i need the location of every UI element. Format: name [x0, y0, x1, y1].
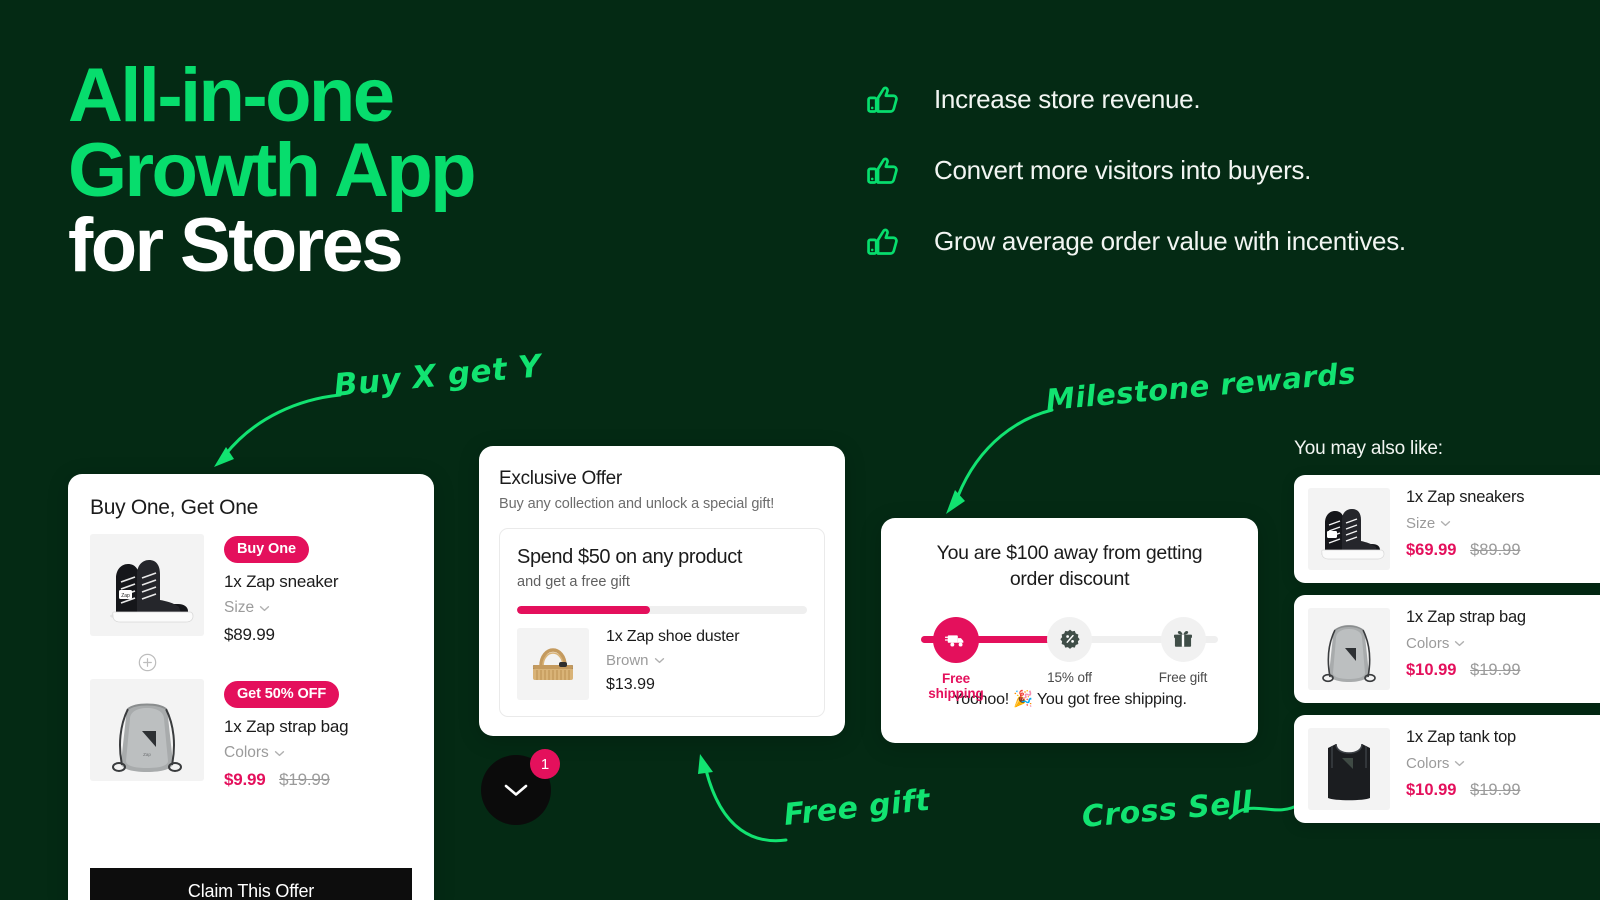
bogo-item-price: $89.99	[224, 625, 338, 645]
upsell-item-card[interactable]: 1x Zap tank top Colors $10.99 $19.99	[1294, 715, 1600, 823]
upsell-item-card[interactable]: 1x Zap sneakers Size $69.99 $89.99	[1294, 475, 1600, 583]
benefit-item: Convert more visitors into buyers.	[866, 135, 1566, 206]
gift-box-icon	[1172, 628, 1194, 650]
chevron-down-icon	[654, 657, 665, 664]
bogo-item-row: Zap Get 50% OFF 1x Zap strap bag Colors …	[90, 679, 412, 790]
hero-line-2: Growth App	[68, 133, 474, 208]
bogo-item-price-row: $9.99 $19.99	[224, 770, 348, 790]
colors-selector[interactable]: Colors	[224, 744, 348, 762]
product-image-strap-bag	[1308, 608, 1390, 690]
upsell-option-label: Colors	[1406, 635, 1449, 652]
hero-line-3: for Stores	[68, 208, 474, 283]
milestone-step-free-gift[interactable]: Free gift	[1144, 617, 1222, 677]
colors-selector-label: Colors	[224, 744, 269, 762]
bogo-item-badge: Buy One	[224, 536, 309, 563]
gift-color-label: Brown	[606, 652, 649, 669]
bogo-offer-card: Buy One, Get One Zap Buy One 1x Zap snea…	[68, 474, 434, 900]
upsell-item-card[interactable]: 1x Zap strap bag Colors $10.99 $19.99	[1294, 595, 1600, 703]
exclusive-goal-title: Spend $50 on any product	[517, 546, 807, 569]
upsell-option-label: Size	[1406, 515, 1435, 532]
exclusive-card-title: Exclusive Offer	[499, 468, 825, 490]
product-image-shoe-duster	[517, 628, 589, 700]
thumbs-up-icon	[866, 84, 900, 116]
annotation-milestone-rewards: Milestone rewards	[1045, 356, 1358, 417]
upsell-colors-selector[interactable]: Colors	[1406, 635, 1526, 652]
exclusive-offer-card: Exclusive Offer Buy any collection and u…	[479, 446, 845, 736]
percent-badge-icon	[1059, 628, 1081, 650]
product-image-tank-top	[1308, 728, 1390, 810]
bogo-item-sale-price: $9.99	[224, 770, 266, 789]
benefits-list: Increase store revenue. Convert more vis…	[866, 64, 1566, 277]
benefit-item: Increase store revenue.	[866, 64, 1566, 135]
bogo-item-name: 1x Zap sneaker	[224, 572, 338, 592]
milestone-step-15-off[interactable]: 15% off	[1031, 617, 1109, 677]
gift-color-selector[interactable]: Brown	[606, 652, 739, 669]
exclusive-progress-fill	[517, 606, 650, 614]
chevron-down-icon	[1454, 760, 1465, 767]
milestone-step-label: 15% off	[1031, 670, 1109, 685]
bogo-item-name: 1x Zap strap bag	[224, 717, 348, 737]
upsell-price-row: $69.99 $89.99	[1406, 541, 1524, 560]
annotation-arrow-buy-x-get-y	[200, 385, 350, 475]
milestone-step-dot	[1161, 617, 1206, 662]
bogo-item-badge: Get 50% OFF	[224, 681, 339, 708]
thumbs-up-icon	[866, 155, 900, 187]
claim-offer-button[interactable]: Claim This Offer	[90, 868, 412, 900]
gift-name: 1x Zap shoe duster	[606, 628, 739, 646]
exclusive-goal-subtitle: and get a free gift	[517, 574, 807, 590]
milestone-step-dot	[933, 617, 979, 663]
upsell-sale-price: $69.99	[1406, 541, 1456, 559]
exclusive-progress-bar	[517, 606, 807, 614]
upsell-item-name: 1x Zap tank top	[1406, 728, 1521, 747]
upsell-item-name: 1x Zap sneakers	[1406, 488, 1524, 507]
benefit-item: Grow average order value with incentives…	[866, 206, 1566, 277]
exclusive-gift-row: 1x Zap shoe duster Brown $13.99	[517, 628, 807, 700]
exclusive-card-subtitle: Buy any collection and unlock a special …	[499, 496, 825, 512]
benefit-text: Grow average order value with incentives…	[934, 226, 1406, 257]
size-selector[interactable]: Size	[224, 599, 338, 617]
upsell-price-row: $10.99 $19.99	[1406, 781, 1521, 800]
annotation-buy-x-get-y: Buy X get Y	[332, 348, 543, 404]
svg-text:Zap: Zap	[143, 752, 151, 757]
upsell-item-name: 1x Zap strap bag	[1406, 608, 1526, 627]
upsell-size-selector[interactable]: Size	[1406, 515, 1524, 532]
chevron-down-icon	[503, 782, 529, 798]
gift-price: $13.99	[606, 676, 739, 694]
bogo-item-row: Zap Buy One 1x Zap sneaker Size $89.99	[90, 534, 412, 645]
milestone-step-free-shipping[interactable]: Free shipping	[917, 617, 995, 677]
exclusive-goal-panel: Spend $50 on any product and get a free …	[499, 528, 825, 717]
upsell-sale-price: $10.99	[1406, 781, 1456, 799]
upsell-compare-price: $89.99	[1470, 541, 1520, 559]
annotation-arrow-free-gift	[686, 748, 796, 853]
page-title: All-in-one Growth App for Stores	[68, 58, 474, 284]
size-selector-label: Size	[224, 599, 254, 617]
annotation-free-gift: Free gift	[782, 783, 932, 833]
benefit-text: Increase store revenue.	[934, 84, 1200, 115]
product-image-sneakers	[1308, 488, 1390, 570]
milestone-step-label: Free gift	[1144, 670, 1222, 685]
bogo-card-title: Buy One, Get One	[90, 496, 412, 520]
annotation-arrow-milestone	[930, 400, 1060, 525]
milestone-rewards-card: You are $100 away from getting order dis…	[881, 518, 1258, 743]
upsell-compare-price: $19.99	[1470, 661, 1520, 679]
hero-line-1: All-in-one	[68, 58, 474, 133]
product-image-strap-bag: Zap	[90, 679, 204, 781]
svg-text:Zap: Zap	[121, 593, 130, 599]
cart-badge-count: 1	[530, 749, 560, 779]
shipping-truck-icon	[945, 629, 967, 651]
product-image-sneaker: Zap	[90, 534, 204, 636]
upsell-colors-selector[interactable]: Colors	[1406, 755, 1521, 772]
chevron-down-icon	[1454, 640, 1465, 647]
bogo-item-compare-price: $19.99	[279, 770, 330, 789]
milestone-step-label: Free shipping	[917, 671, 995, 701]
plus-circle-icon	[138, 653, 157, 672]
annotation-cross-sell: Cross Sell	[1080, 785, 1254, 835]
upsell-panel: You may also like: 1x Zap sneakers Size	[1294, 438, 1600, 835]
chevron-down-icon	[274, 750, 285, 757]
upsell-compare-price: $19.99	[1470, 781, 1520, 799]
chevron-down-icon	[1440, 520, 1451, 527]
milestone-progress: Free shipping 15% off	[899, 617, 1240, 677]
benefit-text: Convert more visitors into buyers.	[934, 155, 1311, 186]
upsell-title: You may also like:	[1294, 438, 1600, 460]
thumbs-up-icon	[866, 226, 900, 258]
upsell-sale-price: $10.99	[1406, 661, 1456, 679]
upsell-price-row: $10.99 $19.99	[1406, 661, 1526, 680]
chevron-down-icon	[259, 605, 270, 612]
upsell-option-label: Colors	[1406, 755, 1449, 772]
cart-toggle-bubble[interactable]: 1	[481, 755, 551, 825]
bogo-connector	[90, 653, 204, 672]
milestone-headline: You are $100 away from getting order dis…	[899, 540, 1240, 593]
milestone-step-dot	[1047, 617, 1092, 662]
